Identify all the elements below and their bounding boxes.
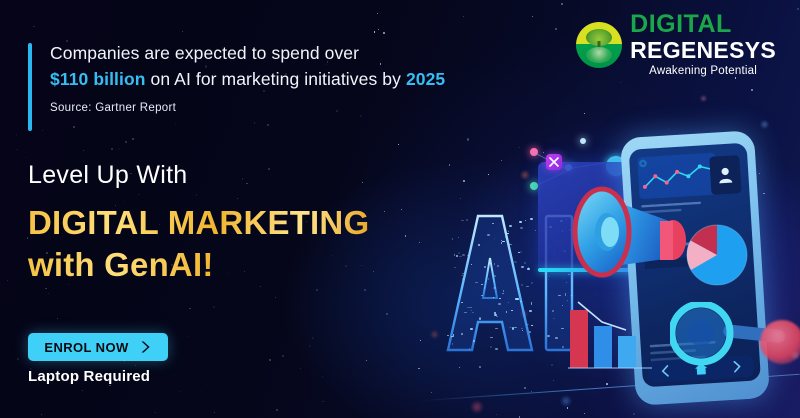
accent-bar — [28, 43, 32, 131]
headline-line-2: with GenAI! — [28, 244, 369, 286]
logo-word-regenesys: REGENESYS — [630, 39, 776, 62]
headline-block: Level Up With DIGITAL MARKETING with Gen… — [28, 160, 369, 286]
enrol-now-button[interactable]: ENROL NOW — [28, 333, 168, 361]
statistic-line-1-text: Companies are expected to spend over — [50, 43, 359, 63]
tree-emblem-icon — [576, 22, 622, 68]
brand-logo[interactable]: DIGITAL REGENESYS Awakening Potential — [576, 12, 776, 78]
logo-tagline: Awakening Potential — [630, 66, 776, 78]
user-avatar-icon — [709, 155, 741, 195]
chevron-right-icon — [138, 340, 152, 354]
tree-roots-icon — [586, 47, 612, 63]
statistic-source: Source: Gartner Report — [50, 102, 445, 114]
megaphone-icon — [560, 178, 698, 289]
headline-line-1: DIGITAL MARKETING — [28, 202, 369, 244]
chevron-left-icon[interactable] — [660, 365, 671, 378]
statistic-amount: $110 billion — [50, 69, 146, 89]
statistic-line-2: $110 billion on AI for marketing initiat… — [50, 66, 445, 92]
statistic-year: 2025 — [406, 69, 445, 89]
logo-wordmark: DIGITAL REGENESYS Awakening Potential — [630, 12, 776, 78]
headline-eyebrow: Level Up With — [28, 160, 369, 190]
shuffle-icon — [546, 154, 562, 170]
statistic-block: Companies are expected to spend over $11… — [28, 40, 445, 114]
statistic-line-2-mid: on AI for marketing initiatives by — [146, 69, 406, 89]
laptop-required-note: Laptop Required — [28, 368, 150, 385]
enrol-now-label: ENROL NOW — [44, 340, 128, 355]
hero-illustration — [420, 120, 800, 418]
decorative-orb — [760, 320, 800, 364]
promo-banner: Companies are expected to spend over $11… — [0, 0, 800, 418]
statistic-line-1: Companies are expected to spend over — [50, 40, 445, 66]
logo-word-digital: DIGITAL — [630, 12, 776, 37]
bar-chart — [568, 296, 652, 377]
